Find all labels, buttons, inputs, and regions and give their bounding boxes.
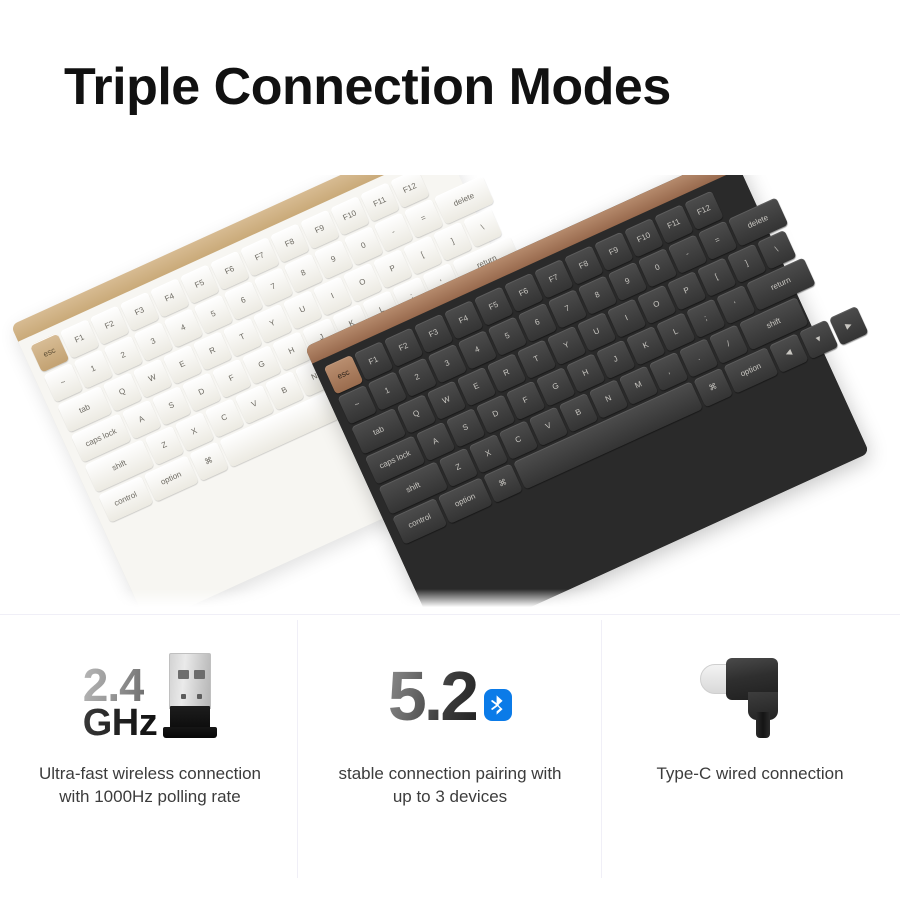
usb-dongle-icon (163, 653, 217, 739)
usb-dongle-window-right (194, 670, 205, 679)
feature-wireless-24ghz: 2.4 GHz Ultra-fast wi (0, 618, 300, 900)
feature-visual-24ghz: 2.4 GHz (83, 650, 218, 742)
usb-dongle-dot-right (197, 694, 202, 699)
feature-panel-row: 2.4 GHz Ultra-fast wi (0, 618, 900, 900)
keyboard-stage: escF1F2F3F4F5F6F7F8F9F10F11F12~123456789… (0, 175, 900, 615)
ghz-text-block: 2.4 GHz (83, 667, 158, 739)
usb-dongle-base (163, 727, 217, 738)
product-feature-page: Triple Connection Modes escF1F2F3F4F5F6F… (0, 0, 900, 900)
bluetooth-icon (484, 689, 512, 721)
usb-dongle-window-left (178, 670, 189, 679)
type-c-cable (756, 712, 770, 738)
feature-bluetooth-52: 5.2 stable connection pairing with up to… (300, 618, 600, 900)
feature-visual-bluetooth: 5.2 (388, 650, 512, 742)
section-divider-horizontal (0, 614, 900, 615)
feature-caption-bluetooth: stable connection pairing with up to 3 d… (331, 762, 569, 808)
ghz-unit: GHz (83, 708, 158, 739)
feature-caption-24ghz: Ultra-fast wireless connection with 1000… (31, 762, 269, 808)
ghz-lockup: 2.4 GHz (83, 653, 218, 739)
bluetooth-version-value: 5.2 (388, 661, 476, 731)
usb-dongle-dot-left (181, 694, 186, 699)
ghz-value: 2.4 (83, 667, 144, 705)
feature-visual-type-c (694, 650, 806, 742)
feature-type-c-wired: Type-C wired connection (600, 618, 900, 900)
feature-caption-type-c: Type-C wired connection (631, 762, 869, 785)
usb-type-c-connector-icon (694, 650, 806, 742)
page-title: Triple Connection Modes (64, 58, 671, 116)
bluetooth-lockup: 5.2 (388, 661, 512, 731)
usb-dongle-metal-shell (169, 653, 211, 709)
keyboard-hero-image: escF1F2F3F4F5F6F7F8F9F10F11F12~123456789… (0, 175, 900, 615)
